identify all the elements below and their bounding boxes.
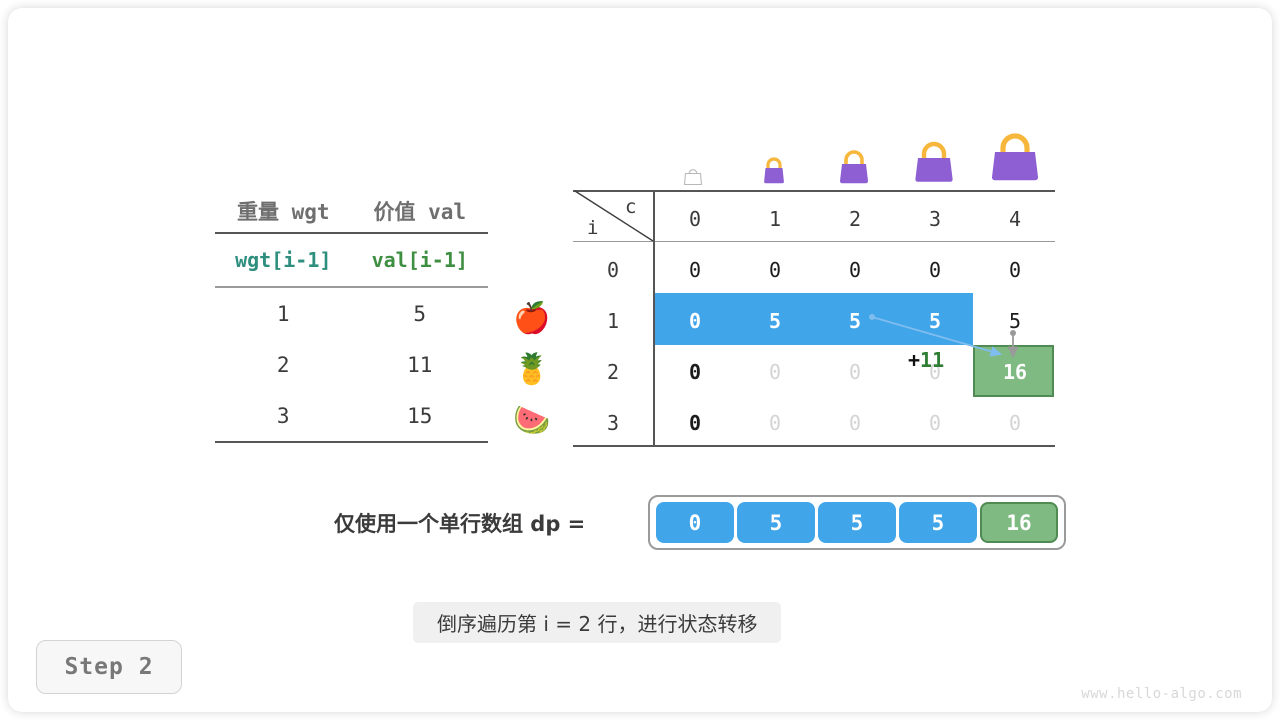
items-table-subheader-row: wgt[i-1] val[i-1] — [215, 234, 488, 288]
dp-cell-1-4: 5 — [975, 309, 1055, 333]
item-icons-column: 🍎 🍍 🍉 — [508, 293, 556, 446]
dp-cell-1-3: 5 — [895, 309, 975, 333]
item-val-1: 5 — [352, 302, 489, 326]
screenshot-root: 重量 wgt 价值 val wgt[i-1] val[i-1] 1 5 2 11… — [0, 0, 1280, 720]
dp-col-header-4: 4 — [975, 207, 1055, 231]
bag-icon-4 — [975, 128, 1055, 186]
bag-icon-2 — [814, 128, 894, 186]
dp-cell-2-1: 0 — [735, 360, 815, 384]
dp-array-cell-3: 5 — [899, 502, 977, 543]
caption-text: 倒序遍历第 i = 2 行，进行状态转移 — [413, 602, 781, 643]
bag-icon-3 — [894, 128, 974, 186]
dp-cell-1-0: 0 — [655, 309, 735, 333]
items-subheader-val: val[i-1] — [352, 248, 489, 272]
dp-cell-1-2: 5 — [815, 309, 895, 333]
dp-table: i c 0 1 2 3 0 1 2 3 4 0 0 0 0 0 0 5 5 — [573, 190, 1055, 447]
watermelon-icon: 🍉 — [508, 395, 556, 446]
corner-label-i: i — [587, 217, 598, 239]
items-header-val: 价值 val — [352, 196, 489, 226]
bag-capacity-icons — [653, 128, 1055, 186]
item-val-3: 15 — [352, 404, 489, 428]
bag-icon-1 — [733, 128, 813, 186]
dp-cell-3-3: 0 — [895, 411, 975, 435]
dp-cell-0-2: 0 — [815, 258, 895, 282]
step-badge: Step 2 — [36, 640, 182, 694]
items-table-header-row: 重量 wgt 价值 val — [215, 190, 488, 234]
item-val-2: 11 — [352, 353, 489, 377]
dp-row-label-3: 3 — [573, 411, 653, 435]
items-table-row: 1 5 — [215, 288, 488, 339]
dp-row-label-2: 2 — [573, 360, 653, 384]
item-wgt-2: 2 — [215, 353, 352, 377]
items-subheader-wgt: wgt[i-1] — [215, 248, 352, 272]
corner-label-c: c — [625, 196, 636, 218]
items-table: 重量 wgt 价值 val wgt[i-1] val[i-1] 1 5 2 11… — [215, 190, 488, 443]
dp-cell-1-1: 5 — [735, 309, 815, 333]
pineapple-icon: 🍍 — [508, 344, 556, 395]
transition-annotation: +11 — [908, 348, 944, 372]
items-table-row: 2 11 — [215, 339, 488, 390]
annotation-value: 11 — [920, 348, 944, 372]
dp-col-header-2: 2 — [815, 207, 895, 231]
dp-cell-0-0: 0 — [655, 258, 735, 282]
bag-icon-empty — [653, 128, 733, 186]
apple-icon: 🍎 — [508, 293, 556, 344]
dp-cell-2-2: 0 — [815, 360, 895, 384]
dp-cell-0-4: 0 — [975, 258, 1055, 282]
items-table-bottom-rule — [215, 441, 488, 443]
dp-array-cell-2: 5 — [818, 502, 896, 543]
annotation-plus-sign: + — [908, 348, 920, 372]
dp-array-cell-0: 0 — [656, 502, 734, 543]
dp-cell-0-1: 0 — [735, 258, 815, 282]
items-header-wgt: 重量 wgt — [215, 196, 352, 226]
dp-array-label: 仅使用一个单行数组 dp = — [334, 508, 585, 538]
dp-array: 0 5 5 5 16 — [648, 495, 1066, 550]
dp-cell-3-0: 0 — [655, 411, 735, 435]
dp-bottom-rule — [573, 445, 1055, 447]
dp-row-label-1: 1 — [573, 309, 653, 333]
dp-cell-2-4: 16 — [975, 360, 1055, 384]
corner-diagonal-line — [573, 190, 655, 242]
dp-col-header-1: 1 — [735, 207, 815, 231]
dp-cell-0-3: 0 — [895, 258, 975, 282]
dp-cell-3-1: 0 — [735, 411, 815, 435]
footer-watermark: www.hello-algo.com — [1081, 686, 1242, 702]
item-wgt-1: 1 — [215, 302, 352, 326]
item-wgt-3: 3 — [215, 404, 352, 428]
dp-col-header-3: 3 — [895, 207, 975, 231]
dp-cell-3-4: 0 — [975, 411, 1055, 435]
dp-array-cell-4: 16 — [980, 502, 1058, 543]
dp-array-cell-1: 5 — [737, 502, 815, 543]
dp-col-header-0: 0 — [655, 207, 735, 231]
dp-cell-2-0: 0 — [655, 360, 735, 384]
dp-row-label-0: 0 — [573, 258, 653, 282]
dp-cell-3-2: 0 — [815, 411, 895, 435]
items-table-row: 3 15 — [215, 390, 488, 441]
